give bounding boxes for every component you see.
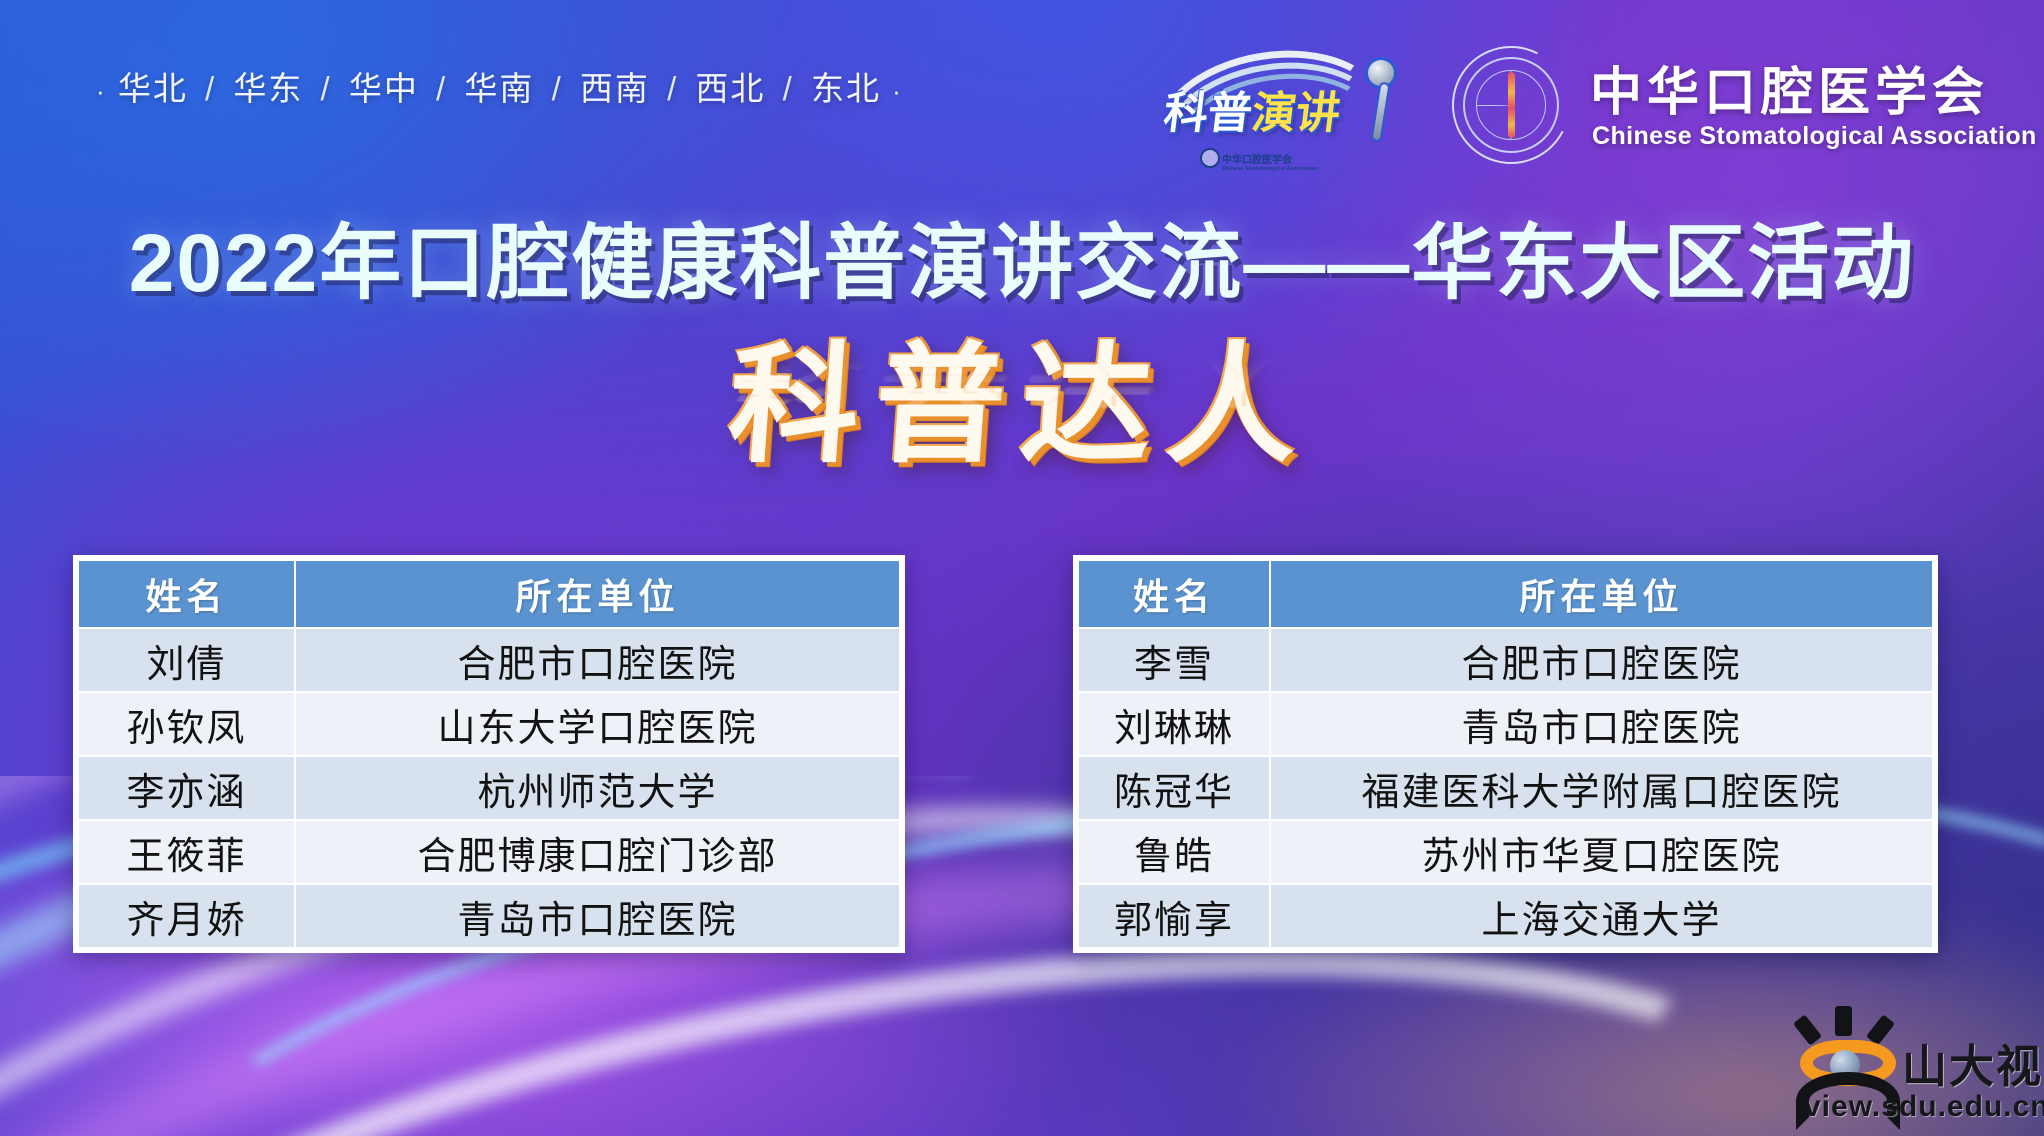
csa-logo: 中华口腔医学会 Chinese Stomatological Associati… [1452,44,1982,166]
region-huabei: 华北 [118,70,188,107]
cell-unit: 合肥市口腔医院 [1271,629,1932,691]
region-huazhong: 华中 [349,70,419,107]
speech-logo-csa-en: Chinese Stomatological Association [1222,166,1318,172]
slide-canvas: · 华北 / 华东 / 华中 / 华南 / 西南 / 西北 / 东北 · 科普演… [0,0,2044,1136]
cell-unit: 青岛市口腔医院 [1271,693,1932,755]
table-row: 齐月娇 青岛市口腔医院 [79,885,899,947]
cell-name: 刘倩 [79,629,294,691]
region-separator: / [552,70,563,107]
table-row: 王筱菲 合肥博康口腔门诊部 [79,821,899,883]
speech-logo-text-yanjiang: 演讲 [1249,89,1343,138]
region-dongbei: 东北 [811,70,881,107]
cell-unit: 杭州师范大学 [296,757,899,819]
cell-name: 刘琳琳 [1079,693,1269,755]
cell-name: 郭愉享 [1079,885,1269,947]
table-header-row: 姓名 所在单位 [79,561,899,627]
table-row: 陈冠华 福建医科大学附属口腔医院 [1079,757,1932,819]
cell-unit: 福建医科大学附属口腔医院 [1271,757,1932,819]
cell-unit: 青岛市口腔医院 [296,885,899,947]
region-separator: / [321,70,332,107]
region-suffix-dot: · [892,76,903,106]
cell-unit: 苏州市华夏口腔医院 [1271,821,1932,883]
watermark-url: view.sdu.edu.cn [1804,1090,2044,1124]
awardees-table-left: 姓名 所在单位 刘倩 合肥市口腔医院 孙钦凤 山东大学口腔医院 李亦涵 杭州师范… [73,555,905,953]
watermark: 山大视点 view.sdu.edu.cn [1784,996,2036,1130]
cell-unit: 合肥市口腔医院 [296,629,899,691]
csa-name-en: Chinese Stomatological Association [1592,122,2037,151]
column-header-unit: 所在单位 [296,561,899,627]
region-xibei: 西北 [695,70,765,107]
speech-logo-csa-text: 中华口腔医学会 Chinese Stomatological Associati… [1222,151,1318,172]
cell-name: 王筱菲 [79,821,294,883]
region-separator: / [667,70,678,107]
table-header-row: 姓名 所在单位 [1079,561,1932,627]
page-title: 2022年口腔健康科普演讲交流——华东大区活动 [0,196,2044,315]
cell-unit: 上海交通大学 [1271,885,1932,947]
table-row: 刘倩 合肥市口腔医院 [79,629,899,691]
table-row: 孙钦凤 山东大学口腔医院 [79,693,899,755]
cell-name: 李雪 [1079,629,1269,691]
subtitle-block: 科普达人 科普达人 [0,300,2044,488]
table-row: 刘琳琳 青岛市口腔医院 [1079,693,1932,755]
region-separator: / [783,70,794,107]
region-separator: / [436,70,447,107]
region-separator: / [205,70,216,107]
cell-name: 鲁皓 [1079,821,1269,883]
region-xinan: 西南 [580,70,650,107]
table-row: 郭愉享 上海交通大学 [1079,885,1932,947]
csa-serpent-icon [1508,72,1515,138]
column-header-unit: 所在单位 [1271,561,1932,627]
table-row: 鲁皓 苏州市华夏口腔医院 [1079,821,1932,883]
eye-ray-top-icon [1835,1006,1852,1036]
region-prefix-dot: · [96,76,107,106]
cell-unit: 山东大学口腔医院 [296,693,899,755]
cell-name: 孙钦凤 [79,693,294,755]
awardees-table-right: 姓名 所在单位 李雪 合肥市口腔医院 刘琳琳 青岛市口腔医院 陈冠华 福建医科大… [1073,555,1938,953]
region-huadong: 华东 [233,70,303,107]
speech-logo-csa-mark-icon [1200,148,1220,168]
cell-name: 陈冠华 [1079,757,1269,819]
eye-ray-left-icon [1793,1014,1822,1045]
column-header-name: 姓名 [1079,561,1269,627]
subtitle-text: 科普达人 [723,300,1320,488]
csa-emblem-icon [1452,46,1570,164]
watermark-name: 山大视点 [1902,1030,2044,1095]
csa-name-cn: 中华口腔医学会 [1590,50,1989,125]
speech-logo-text-kepu: 科普 [1161,89,1255,138]
region-huanan: 华南 [464,70,534,107]
speech-logo-csa-cn: 中华口腔医学会 [1222,155,1292,166]
table-row: 李亦涵 杭州师范大学 [79,757,899,819]
column-header-name: 姓名 [79,561,294,627]
speech-campaign-logo: 科普演讲 中华口腔医学会 Chinese Stomatological Asso… [1148,38,1400,168]
table-row: 李雪 合肥市口腔医院 [1079,629,1932,691]
cell-unit: 合肥博康口腔门诊部 [296,821,899,883]
speech-logo-text: 科普演讲 [1161,92,1380,136]
microphone-head-icon [1368,60,1394,86]
cell-name: 李亦涵 [79,757,294,819]
region-list: · 华北 / 华东 / 华中 / 华南 / 西南 / 西北 / 东北 · [96,62,903,110]
cell-name: 齐月娇 [79,885,294,947]
